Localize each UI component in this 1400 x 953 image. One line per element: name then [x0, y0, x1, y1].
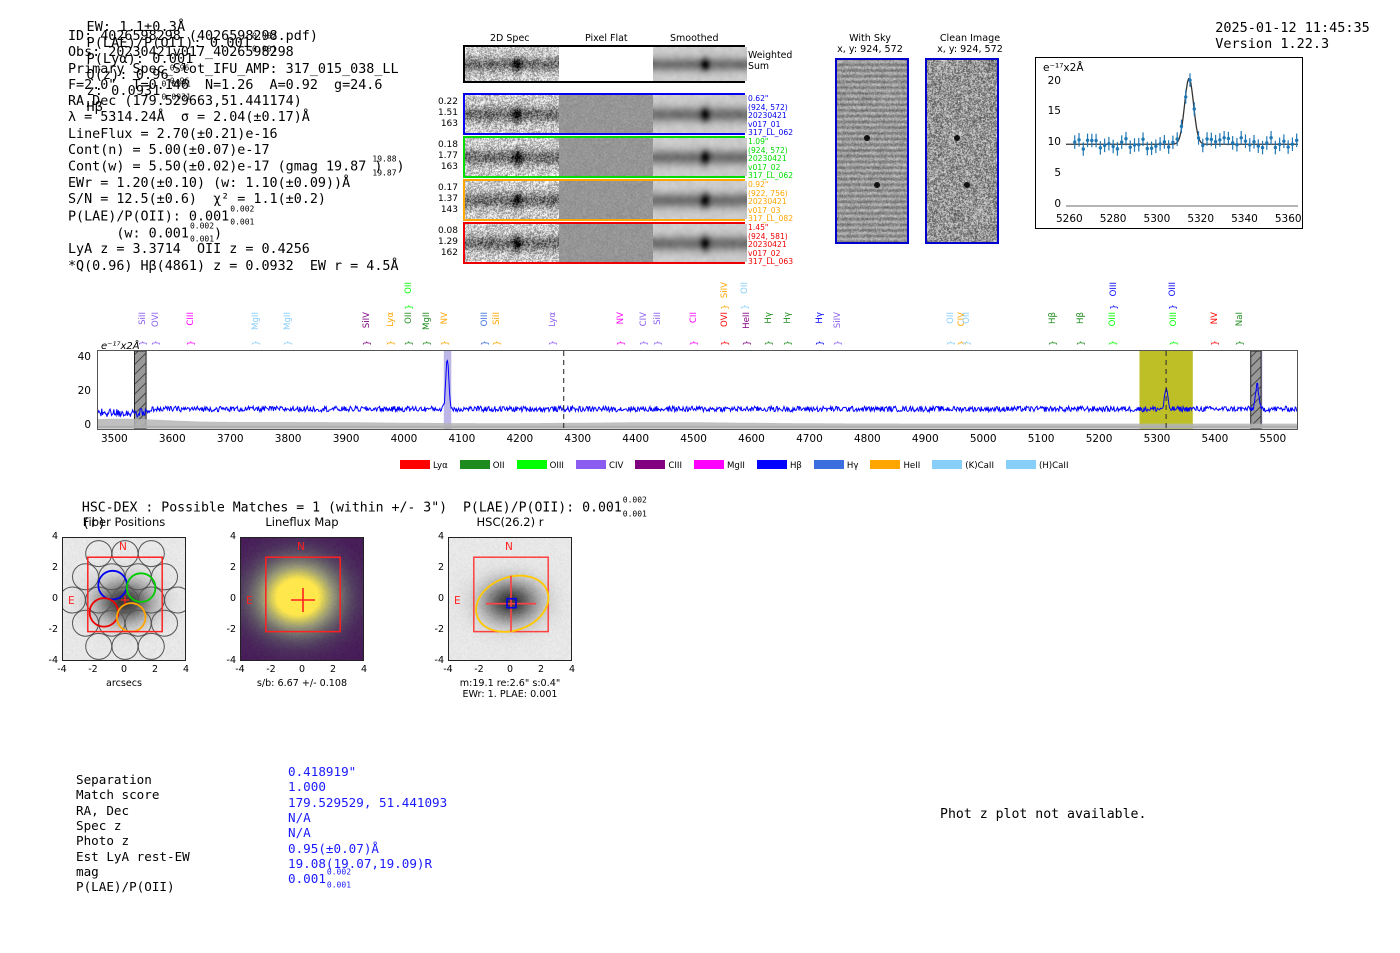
- panel-ytick: 2: [426, 562, 444, 573]
- spectrum-xtick: 5100: [1019, 433, 1063, 445]
- lineplot-ytick: 15: [1037, 105, 1061, 117]
- panel-ytick: -4: [218, 655, 236, 666]
- fiber-row: [463, 93, 745, 135]
- legend-swatch: [576, 460, 606, 469]
- line-marker-label: OII: [946, 312, 956, 324]
- line-marker-label: NV: [1210, 312, 1220, 324]
- line-marker-label: SiIV: [720, 282, 730, 298]
- line-marker-brace: {: [719, 340, 729, 346]
- legend-label: OII: [493, 461, 505, 471]
- panel-caption: m:19.1 re:2.6" s:0.4" EWr: 1. PLAE: 0.00…: [420, 678, 600, 700]
- panel-ytick: 0: [218, 593, 236, 604]
- line-marker-brace: {: [738, 304, 748, 310]
- match-table-key: Photo z: [76, 833, 129, 848]
- panel-ytick: -2: [426, 624, 444, 635]
- panel-xtick: -2: [467, 664, 491, 675]
- line-marker-label: SiII: [138, 312, 148, 325]
- legend-swatch: [814, 460, 844, 469]
- panel-title: Lineflux Map: [215, 515, 389, 529]
- spectrum-xtick: 4100: [440, 433, 484, 445]
- legend-label: HeII: [903, 461, 920, 471]
- match-table-key: Match score: [76, 787, 159, 802]
- fiber-row: [463, 179, 745, 221]
- panel-xtick: 0: [498, 664, 522, 675]
- fiber-pixelflat-image: [559, 224, 653, 262]
- spectrum-xtick: 4900: [903, 433, 947, 445]
- lineplot-xtick: 5300: [1139, 213, 1175, 225]
- line-marker-label: MgII: [283, 312, 293, 330]
- lineplot-xtick: 5280: [1095, 213, 1131, 225]
- photz-unavailable-note: Phot z plot not available.: [940, 807, 1146, 822]
- info-seeing: F=2.0" T=0.146 N=1.26 A=0.92 g=24.6: [68, 78, 405, 94]
- spectrum-ytick: 0: [61, 419, 91, 431]
- line-marker-label: OII: [740, 282, 750, 294]
- line-marker-brace: {: [719, 304, 729, 310]
- lineplot-canvas: [1036, 58, 1302, 228]
- spectrum-ytick: 20: [61, 385, 91, 397]
- line-marker-label: Hγ: [815, 312, 825, 324]
- hscdex-plae-errors: 0.0020.001: [623, 500, 647, 515]
- panel-ytick: 0: [40, 593, 58, 604]
- spectrum-xtick: 4600: [730, 433, 774, 445]
- spectrum-xtick: 4200: [498, 433, 542, 445]
- panel-ytick: -2: [40, 624, 58, 635]
- fiber-smoothed-image: [653, 138, 747, 176]
- match-table-value: 0.418919": [288, 764, 356, 779]
- info-id: ID: 4026598298 (4026598298.pdf): [68, 29, 405, 45]
- match-table-key: Separation: [76, 772, 152, 787]
- panel-xtick: -2: [81, 664, 105, 675]
- info-lineflux: LineFlux = 2.70(±0.21)e-16: [68, 127, 405, 143]
- clean-image-coords: x, y: 924, 572: [915, 44, 1025, 55]
- panel-ytick: 2: [218, 562, 236, 573]
- legend-swatch: [694, 460, 724, 469]
- line-marker-label: NV: [616, 312, 626, 324]
- line-marker-brace: {: [945, 340, 955, 346]
- fiber-pixelflat-image: [559, 138, 653, 176]
- lineplot-ytick: 10: [1037, 136, 1061, 148]
- panel-image[interactable]: [448, 537, 572, 661]
- panel-title: HSC(26.2) r: [423, 515, 597, 529]
- with-sky-coords: x, y: 924, 572: [820, 44, 920, 55]
- line-marker-label: Hβ: [1048, 312, 1058, 324]
- line-marker-brace: {: [782, 340, 792, 346]
- weighted-sum-smoothed-image: [653, 47, 747, 81]
- line-marker-brace: {: [1107, 304, 1117, 310]
- panel-ytick: -4: [40, 655, 58, 666]
- spectrum-legend: LyαOIIOIIICIVCIIIMgIIHβHγHeII(K)CaII(H)C…: [400, 453, 1081, 472]
- fiber-row-stats: 0.18 1.77 163: [422, 140, 458, 173]
- line-marker-label: MgII: [251, 312, 261, 330]
- spectrum-ytick: 40: [61, 351, 91, 363]
- spectrum-xtick: 3500: [92, 433, 136, 445]
- compass-north: N: [505, 541, 513, 553]
- line-marker-brace: {: [402, 304, 412, 310]
- match-table-key: P(LAE)/P(OII): [76, 879, 175, 894]
- fiber-row-stats: 0.22 1.51 163: [422, 97, 458, 130]
- info-classification: *Q(0.96) Hβ(4861) z = 0.0932 EW r = 4.5Å: [68, 259, 405, 275]
- line-marker-label: Hβ: [1076, 312, 1086, 324]
- panel-title: Fiber Positions: [37, 515, 211, 529]
- panel-xtick: 2: [321, 664, 345, 675]
- full-spectrum-plot: e⁻¹⁷x2Å: [97, 350, 1298, 430]
- line-marker-brace: {: [1107, 340, 1117, 346]
- line-marker-brace: {: [402, 340, 412, 346]
- info-primary-spec: Primary Spec_Slot_IFU_AMP: 317_015_038_L…: [68, 62, 405, 78]
- line-marker-label: OIII: [1169, 312, 1179, 326]
- col-header-pixelflat: Pixel Flat: [585, 33, 628, 44]
- compass-north: N: [297, 541, 305, 553]
- line-marker-brace: {: [961, 340, 971, 346]
- line-marker-brace: {: [1209, 340, 1219, 346]
- line-marker-label: OII: [404, 312, 414, 324]
- match-table-key: RA, Dec: [76, 803, 129, 818]
- header-timestamp-version: 2025-01-12 11:45:35 Version 1.22.3: [1199, 4, 1386, 52]
- spectrum-xtick: 4400: [614, 433, 658, 445]
- panel-ytick: -4: [426, 655, 444, 666]
- fiber-row-meta: 1.09" (924, 572) 20230421 v017_02 317_LL…: [748, 138, 793, 181]
- panel-xtick: 4: [560, 664, 584, 675]
- panel-xtick: 0: [290, 664, 314, 675]
- line-marker-label: OIII: [1109, 282, 1119, 296]
- line-marker-label: OII: [404, 282, 414, 294]
- with-sky-header: With Sky x, y: 924, 572: [820, 33, 920, 55]
- legend-label: Hγ: [847, 461, 859, 471]
- info-cont-w: Cont(w) = 5.50(±0.02)e-17 (gmag 19.87 )1…: [68, 159, 405, 176]
- fiber-pixelflat-image: [559, 95, 653, 133]
- spec2d-panel-group: 2D Spec Pixel Flat Smoothed Weighted Sum…: [430, 33, 790, 258]
- col-header-2dspec: 2D Spec: [490, 33, 530, 44]
- spectrum-xtick: 3800: [266, 433, 310, 445]
- line-marker-brace: {: [185, 340, 195, 346]
- spectrum-xtick: 4700: [787, 433, 831, 445]
- panel-image[interactable]: [240, 537, 364, 661]
- line-marker-brace: {: [547, 340, 557, 346]
- spectrum-xtick: 5200: [1077, 433, 1121, 445]
- line-marker-label: SiIV: [362, 312, 372, 328]
- match-table-value: 179.529529, 51.441093: [288, 795, 447, 810]
- line-marker-brace: {: [1168, 340, 1178, 346]
- panel-xtick: 2: [143, 664, 167, 675]
- spectrum-xtick: 5400: [1193, 433, 1237, 445]
- spectrum-canvas: [98, 351, 1297, 429]
- info-plae-errors: 0.0020.001: [230, 209, 254, 224]
- panel-xtick: 4: [352, 664, 376, 675]
- line-marker-label: OVI: [720, 312, 730, 327]
- legend-swatch: [932, 460, 962, 469]
- line-marker-brace: {: [741, 340, 751, 346]
- legend-swatch: [400, 460, 430, 469]
- legend-label: CIV: [609, 461, 623, 471]
- line-marker-brace: {: [652, 340, 662, 346]
- line-marker-brace: {: [638, 340, 648, 346]
- legend-label: Lyα: [433, 461, 448, 471]
- clean-image-header: Clean Image x, y: 924, 572: [915, 33, 1025, 55]
- panel-ytick: 4: [426, 531, 444, 542]
- line-marker-label: CII: [689, 312, 699, 323]
- line-marker-label: Hγ: [783, 312, 793, 324]
- weighted-sum-row: [463, 45, 745, 83]
- fiber-row-meta: 0.62" (924, 572) 20230421 v017_01 317_LL…: [748, 95, 793, 138]
- fiber-smoothed-image: [653, 95, 747, 133]
- line-marker-label: Lyα: [386, 312, 396, 327]
- line-marker-brace: {: [1166, 304, 1176, 310]
- compass-east: E: [454, 595, 461, 607]
- fiber-smoothed-image: [653, 224, 747, 262]
- panel-ytick: 4: [40, 531, 58, 542]
- info-cont-n: Cont(n) = 5.00(±0.07)e-17: [68, 143, 405, 159]
- legend-swatch: [870, 460, 900, 469]
- panel-xtick: 4: [174, 664, 198, 675]
- line-marker-brace: {: [479, 340, 489, 346]
- fiber-row-stats: 0.08 1.29 162: [422, 226, 458, 259]
- lineplot-ytick: 0: [1037, 198, 1061, 210]
- fiber-2dspec-image: [465, 181, 559, 219]
- line-marker-brace: {: [832, 340, 842, 346]
- legend-label: CIII: [668, 461, 682, 471]
- line-marker-brace: {: [763, 340, 773, 346]
- line-marker-brace: {: [361, 340, 371, 346]
- line-marker-label: OIII: [1168, 282, 1178, 296]
- line-marker-label: CIV: [639, 312, 649, 326]
- line-marker-label: OIII: [1108, 312, 1118, 326]
- fiber-row-meta: 1.45" (924, 581) 20230421 v017_02 317_LL…: [748, 224, 793, 267]
- clean-image-title: Clean Image: [915, 33, 1025, 44]
- compass-east: E: [246, 595, 253, 607]
- line-marker-brace: {: [282, 340, 292, 346]
- info-obs: Obs: 20230421v017_4026598298: [68, 45, 405, 61]
- fiber-row: [463, 136, 745, 178]
- match-table-value: 1.000: [288, 779, 326, 794]
- match-table-value: 19.08(19.07,19.09)R: [288, 856, 432, 871]
- line-marker-brace: {: [385, 340, 395, 346]
- legend-label: (K)CaII: [965, 461, 994, 471]
- line-marker-label: OIII: [480, 312, 490, 326]
- line-marker-brace: {: [1047, 340, 1057, 346]
- panel-ytick: -2: [218, 624, 236, 635]
- line-marker-label: HeII: [742, 312, 752, 329]
- lineplot-ytick: 20: [1037, 75, 1061, 87]
- spectrum-xtick: 4800: [845, 433, 889, 445]
- weighted-sum-pixelflat-image: [559, 47, 653, 81]
- panel-xtick: 2: [529, 664, 553, 675]
- match-table-key: mag: [76, 864, 99, 879]
- col-header-smoothed: Smoothed: [670, 33, 719, 44]
- fiber-2dspec-image: [465, 138, 559, 176]
- spectrum-xtick: 5500: [1251, 433, 1295, 445]
- panel-caption: s/b: 6.67 +/- 0.108: [212, 678, 392, 689]
- line-marker-brace: {: [491, 340, 501, 346]
- fiber-row: [463, 222, 745, 264]
- line-marker-label: NaI: [1235, 312, 1245, 326]
- legend-swatch: [757, 460, 787, 469]
- lineplot-ytick: 5: [1037, 167, 1061, 179]
- info-redshifts: LyA z = 3.3714 OII z = 0.4256: [68, 242, 405, 258]
- version-label: Version 1.22.3: [1215, 36, 1329, 52]
- with-sky-cutout: [835, 58, 909, 244]
- line-marker-label: Lyα: [548, 312, 558, 327]
- panel-caption: arcsecs: [34, 678, 214, 689]
- compass-north: N: [119, 541, 127, 553]
- spectrum-xtick: 3600: [150, 433, 194, 445]
- match-table-value: 0.0010.0020.001: [288, 871, 351, 887]
- timestamp: 2025-01-12 11:45:35: [1215, 20, 1369, 36]
- panel-image[interactable]: [62, 537, 186, 661]
- line-marker-brace: {: [250, 340, 260, 346]
- compass-east: E: [68, 595, 75, 607]
- spectrum-xtick: 3900: [324, 433, 368, 445]
- line-marker-label: OII: [962, 312, 972, 324]
- line-marker-label: SiII: [492, 312, 502, 325]
- fiber-2dspec-image: [465, 95, 559, 133]
- match-table-key: Est LyA rest-EW: [76, 849, 190, 864]
- legend-label: OIII: [550, 461, 564, 471]
- match-table-value: 0.95(±0.07)Å: [288, 841, 379, 856]
- line-marker-label: SiII: [653, 312, 663, 325]
- info-wavelength: λ = 5314.24Å σ = 2.04(±0.17)Å: [68, 110, 405, 126]
- line-marker-brace: {: [1074, 340, 1084, 346]
- spectrum-xtick: 3700: [208, 433, 252, 445]
- info-gmag-errors: 19.8819.87: [372, 159, 396, 174]
- lineplot-xtick: 5360: [1270, 213, 1306, 225]
- weighted-sum-2dspec-image: [465, 47, 559, 81]
- line-marker-label: Hγ: [764, 312, 774, 324]
- line-marker-brace: {: [687, 340, 697, 346]
- line-marker-brace: {: [814, 340, 824, 346]
- spectrum-xtick: 5000: [961, 433, 1005, 445]
- fiber-pixelflat-image: [559, 181, 653, 219]
- lineplot-xtick: 5320: [1183, 213, 1219, 225]
- line-marker-label: CIII: [186, 312, 196, 326]
- panel-xtick: 0: [112, 664, 136, 675]
- match-table-plae-errors: 0.0020.001: [327, 872, 351, 887]
- match-table-value: N/A: [288, 810, 311, 825]
- info-ewr: EWr = 1.20(±0.10) (w: 1.10(±0.09))Å: [68, 176, 405, 192]
- info-radec: RA,Dec (179.529663,51.441174): [68, 94, 405, 110]
- legend-swatch: [1006, 460, 1036, 469]
- emission-line-zoom-plot: e⁻¹⁷x2Å: [1035, 57, 1303, 229]
- legend-swatch: [460, 460, 490, 469]
- spectrum-xtick: 4300: [556, 433, 600, 445]
- line-marker-brace: {: [615, 340, 625, 346]
- info-plae: P(LAE)/P(OII): 0.0010.0020.001 (w: 0.001…: [68, 209, 405, 243]
- panel-xtick: -2: [259, 664, 283, 675]
- spectrum-xtick: 4000: [382, 433, 426, 445]
- info-plae-w-errors: 0.0020.001: [190, 226, 214, 241]
- line-marker-brace: {: [149, 340, 159, 346]
- panel-ytick: 4: [218, 531, 236, 542]
- match-table-key: Spec z: [76, 818, 122, 833]
- spectrum-xtick: 5300: [1135, 433, 1179, 445]
- weighted-sum-label: Weighted Sum: [748, 50, 792, 72]
- clean-image-cutout: [925, 58, 999, 244]
- line-marker-brace: {: [421, 340, 431, 346]
- fiber-row-stats: 0.17 1.37 143: [422, 183, 458, 216]
- legend-label: (H)CaII: [1039, 461, 1069, 471]
- panel-ytick: 2: [40, 562, 58, 573]
- fiber-2dspec-image: [465, 224, 559, 262]
- line-marker-label: MgII: [422, 312, 432, 330]
- lineplot-xtick: 5260: [1051, 213, 1087, 225]
- hscdex-title-text: HSC-DEX : Possible Matches = 1 (within +…: [82, 501, 622, 516]
- legend-label: MgII: [727, 461, 745, 471]
- with-sky-title: With Sky: [820, 33, 920, 44]
- fiber-smoothed-image: [653, 181, 747, 219]
- match-table-value: N/A: [288, 825, 311, 840]
- line-marker-brace: {: [1234, 340, 1244, 346]
- legend-swatch: [517, 460, 547, 469]
- source-info-block: ID: 4026598298 (4026598298.pdf) Obs: 202…: [68, 29, 405, 275]
- panel-ytick: 0: [426, 593, 444, 604]
- line-marker-label: OVI: [151, 312, 161, 327]
- legend-label: Hβ: [790, 461, 802, 471]
- legend-swatch: [635, 460, 665, 469]
- fiber-row-meta: 0.92" (922, 756) 20230421 v017_03 317_LL…: [748, 181, 793, 224]
- line-marker-label: SiIV: [833, 312, 843, 328]
- spectrum-xtick: 4500: [672, 433, 716, 445]
- line-marker-label: NV: [440, 312, 450, 324]
- line-marker-brace: {: [438, 340, 448, 346]
- lineplot-xtick: 5340: [1226, 213, 1262, 225]
